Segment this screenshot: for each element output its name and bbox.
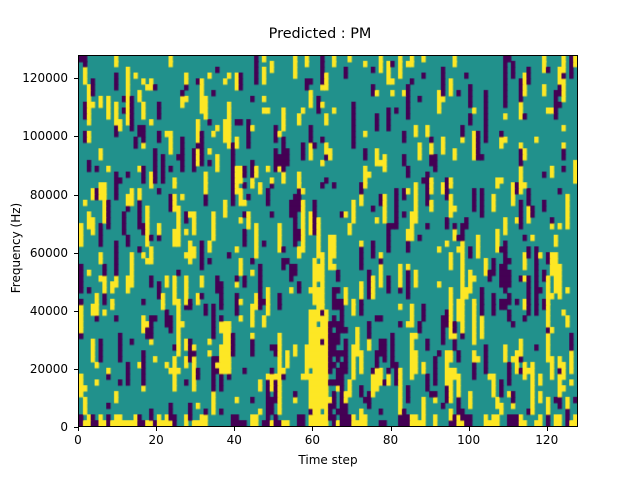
y-tick-label: 0 <box>0 420 68 434</box>
x-tick-label: 40 <box>227 433 242 447</box>
x-tick-mark <box>234 427 235 431</box>
y-tick-label: 20000 <box>0 362 68 376</box>
heatmap-plot-area[interactable] <box>78 55 578 427</box>
y-tick-mark <box>74 369 78 370</box>
x-tick-mark <box>391 427 392 431</box>
x-tick-mark <box>156 427 157 431</box>
y-tick-label: 100000 <box>0 129 68 143</box>
y-tick-mark <box>74 427 78 428</box>
x-tick-label: 80 <box>383 433 398 447</box>
page-title: Predicted : PM <box>0 26 640 42</box>
heatmap-image <box>79 56 577 426</box>
x-tick-label: 0 <box>74 433 82 447</box>
x-tick-mark <box>469 427 470 431</box>
x-tick-label: 120 <box>535 433 558 447</box>
y-tick-mark <box>74 195 78 196</box>
x-tick-mark <box>78 427 79 431</box>
y-tick-mark <box>74 311 78 312</box>
x-tick-label: 100 <box>457 433 480 447</box>
y-tick-label: 120000 <box>0 71 68 85</box>
x-tick-mark <box>547 427 548 431</box>
y-tick-mark <box>74 136 78 137</box>
x-tick-mark <box>312 427 313 431</box>
x-axis-label: Time step <box>78 453 578 467</box>
y-tick-mark <box>74 253 78 254</box>
y-tick-mark <box>74 78 78 79</box>
y-axis-label: Frequency (Hz) <box>9 148 23 348</box>
x-tick-label: 20 <box>148 433 163 447</box>
x-tick-label: 60 <box>305 433 320 447</box>
matplotlib-figure: Predicted : PM 020406080100120 020000400… <box>0 0 640 480</box>
